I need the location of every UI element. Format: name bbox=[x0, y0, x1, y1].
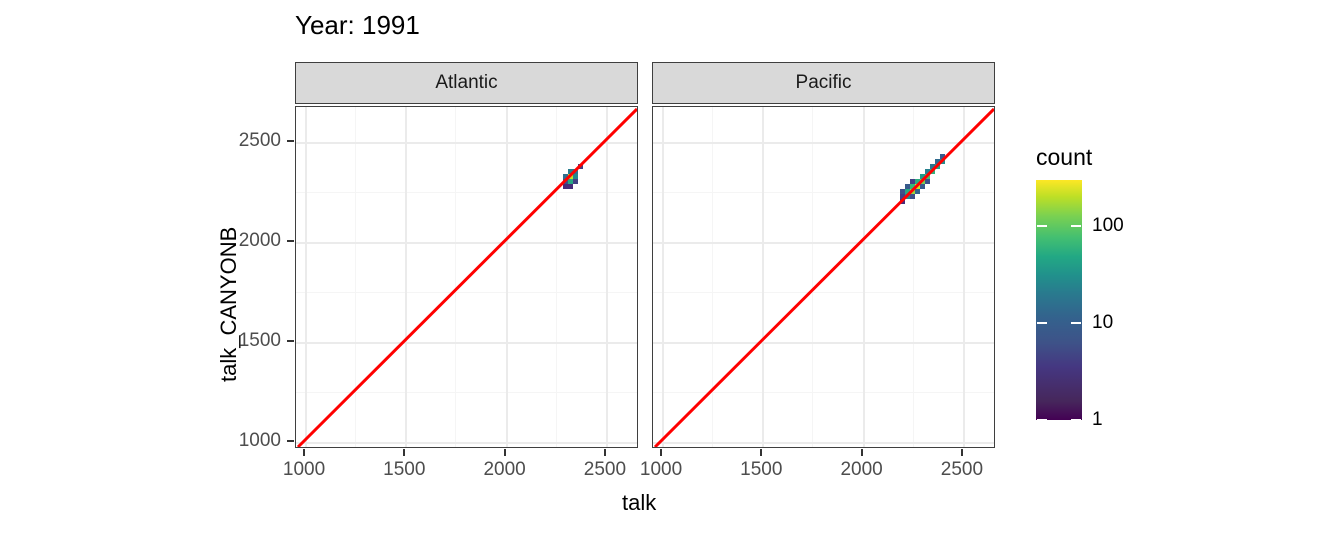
gridline-major-x bbox=[662, 107, 664, 448]
gridline-minor-x bbox=[556, 107, 557, 448]
gridline-minor-x bbox=[812, 107, 813, 448]
legend-tick-label: 1 bbox=[1092, 409, 1103, 431]
gridline-major-y bbox=[653, 442, 995, 444]
chart-root: Year: 1991 talk_CANYONB talk 10001500200… bbox=[0, 0, 1344, 537]
x-tick-mark bbox=[660, 449, 662, 456]
facet-strip-label: Atlantic bbox=[435, 72, 497, 94]
facet-strip-label: Pacific bbox=[796, 72, 852, 94]
x-tick-label: 2500 bbox=[941, 459, 983, 481]
legend-tick-mark bbox=[1037, 225, 1047, 227]
x-tick-label: 1000 bbox=[283, 459, 325, 481]
x-tick-mark bbox=[760, 449, 762, 456]
legend-tick-label: 100 bbox=[1092, 215, 1124, 237]
y-tick-mark bbox=[287, 140, 294, 142]
y-tick-mark bbox=[287, 340, 294, 342]
x-axis-title: talk bbox=[622, 490, 656, 516]
gridline-major-y bbox=[296, 342, 638, 344]
y-tick-label: 2500 bbox=[239, 130, 281, 152]
x-tick-mark bbox=[961, 449, 963, 456]
gridline-major-x bbox=[762, 107, 764, 448]
plot-panel-pacific bbox=[652, 106, 995, 448]
heatmap-tile bbox=[578, 164, 583, 169]
y-tick-label: 1000 bbox=[239, 430, 281, 452]
heatmap-tile bbox=[573, 179, 578, 184]
facet-strip-pacific: Pacific bbox=[652, 62, 995, 104]
x-tick-label: 2000 bbox=[840, 459, 882, 481]
x-tick-mark bbox=[303, 449, 305, 456]
gridline-major-x bbox=[506, 107, 508, 448]
gridline-minor-x bbox=[712, 107, 713, 448]
gridline-major-x bbox=[606, 107, 608, 448]
gridline-major-y bbox=[653, 142, 995, 144]
heatmap-tile bbox=[900, 199, 905, 204]
gridline-minor-x bbox=[913, 107, 914, 448]
y-tick-label: 2000 bbox=[239, 230, 281, 252]
x-tick-mark bbox=[861, 449, 863, 456]
x-tick-label: 1000 bbox=[640, 459, 682, 481]
gridline-minor-y bbox=[653, 292, 995, 293]
x-tick-label: 1500 bbox=[740, 459, 782, 481]
gridline-minor-y bbox=[296, 292, 638, 293]
y-tick-label: 1500 bbox=[239, 330, 281, 352]
gridline-major-y bbox=[653, 342, 995, 344]
legend-tick-mark bbox=[1071, 419, 1081, 421]
gridline-major-x bbox=[963, 107, 965, 448]
y-tick-mark bbox=[287, 440, 294, 442]
heatmap-tile bbox=[910, 194, 915, 199]
x-tick-label: 2000 bbox=[483, 459, 525, 481]
gridline-minor-y bbox=[296, 392, 638, 393]
gridline-minor-y bbox=[653, 392, 995, 393]
gridline-major-x bbox=[863, 107, 865, 448]
legend-tick-label: 10 bbox=[1092, 312, 1113, 334]
legend-tick-mark bbox=[1037, 419, 1047, 421]
page-title: Year: 1991 bbox=[295, 10, 420, 41]
gridline-major-y bbox=[296, 142, 638, 144]
gridline-major-y bbox=[653, 242, 995, 244]
gridline-minor-x bbox=[355, 107, 356, 448]
heatmap-tile bbox=[940, 154, 945, 159]
identity-reference-line bbox=[296, 107, 637, 447]
heatmap-tile bbox=[940, 159, 945, 164]
x-tick-mark bbox=[403, 449, 405, 456]
legend-tick-mark bbox=[1071, 322, 1081, 324]
heatmap-tile bbox=[925, 179, 930, 184]
gridline-major-y bbox=[296, 442, 638, 444]
gridline-major-x bbox=[305, 107, 307, 448]
heatmap-tile bbox=[920, 184, 925, 189]
x-tick-label: 2500 bbox=[584, 459, 626, 481]
gridline-minor-y bbox=[296, 192, 638, 193]
y-tick-mark bbox=[287, 240, 294, 242]
x-tick-label: 1500 bbox=[383, 459, 425, 481]
heatmap-tile bbox=[568, 184, 573, 189]
plot-panel-atlantic bbox=[295, 106, 638, 448]
legend-title: count bbox=[1036, 144, 1092, 171]
x-tick-mark bbox=[604, 449, 606, 456]
heatmap-tile bbox=[930, 169, 935, 174]
gridline-minor-y bbox=[653, 192, 995, 193]
gridline-major-x bbox=[405, 107, 407, 448]
heatmap-tile bbox=[935, 164, 940, 169]
facet-panel-pacific: Pacific bbox=[652, 62, 995, 448]
legend-tick-mark bbox=[1037, 322, 1047, 324]
legend-colorbar bbox=[1036, 180, 1082, 420]
x-tick-mark bbox=[504, 449, 506, 456]
heatmap-tile bbox=[915, 189, 920, 194]
gridline-major-y bbox=[296, 242, 638, 244]
facet-panel-atlantic: Atlantic bbox=[295, 62, 638, 448]
gridline-minor-x bbox=[455, 107, 456, 448]
legend-tick-mark bbox=[1071, 225, 1081, 227]
facet-strip-atlantic: Atlantic bbox=[295, 62, 638, 104]
